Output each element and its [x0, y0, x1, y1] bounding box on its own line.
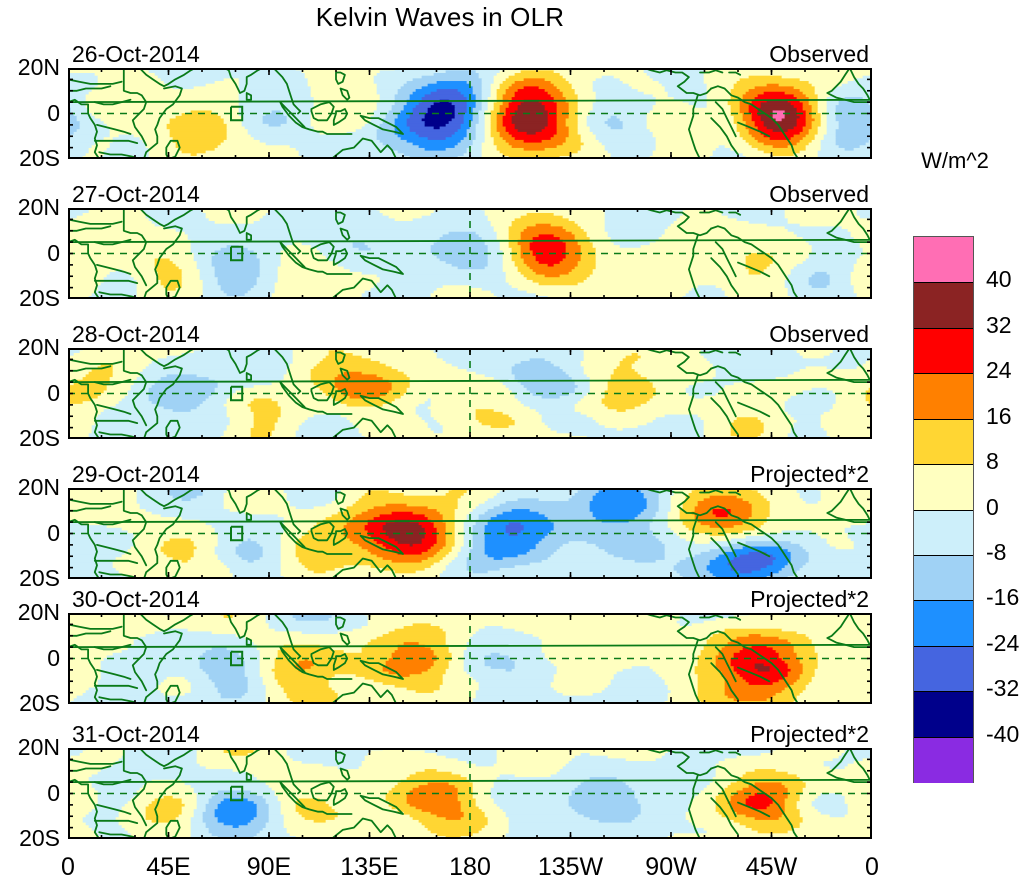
x-tick-label: 180 [420, 853, 520, 882]
colorbar-band [914, 328, 973, 374]
colorbar-tick-label: 16 [986, 403, 1012, 430]
colorbar [913, 236, 974, 783]
y-tick-label: 20S [0, 425, 60, 452]
page-title: Kelvin Waves in OLR [0, 2, 880, 33]
y-tick-label: 0 [0, 240, 60, 267]
x-tick-label: 45W [722, 853, 822, 882]
map-panel-26-oct-2014 [68, 68, 872, 159]
panel-status-label: Projected*2 [68, 721, 869, 748]
colorbar-band [914, 691, 973, 737]
panel-status-label: Observed [68, 321, 869, 348]
colorbar-tick-label: -8 [986, 539, 1006, 566]
y-tick-label: 0 [0, 780, 60, 807]
panel-frame [68, 613, 872, 704]
panel-frame [68, 208, 872, 299]
map-panel-28-oct-2014 [68, 348, 872, 439]
panel-status-label: Projected*2 [68, 461, 869, 488]
colorbar-tick-label: 0 [986, 494, 999, 521]
colorbar-band [914, 737, 973, 783]
colorbar-units-label: W/m^2 [900, 148, 1010, 174]
y-tick-label: 20N [0, 734, 60, 761]
panel-frame [68, 488, 872, 579]
colorbar-tick-label: -24 [986, 630, 1019, 657]
y-tick-label: 20N [0, 194, 60, 221]
colorbar-tick-label: -40 [986, 721, 1019, 748]
colorbar-tick-label: -16 [986, 584, 1019, 611]
x-tick-label: 0 [822, 853, 922, 882]
colorbar-band [914, 600, 973, 646]
colorbar-band [914, 464, 973, 510]
x-tick-label: 90E [219, 853, 319, 882]
map-panel-29-oct-2014 [68, 488, 872, 579]
colorbar-tick-label: 32 [986, 312, 1012, 339]
x-tick-label: 45E [119, 853, 219, 882]
map-panel-30-oct-2014 [68, 613, 872, 704]
y-tick-label: 20N [0, 54, 60, 81]
panel-frame [68, 68, 872, 159]
y-tick-label: 0 [0, 100, 60, 127]
x-tick-label: 90W [621, 853, 721, 882]
colorbar-band [914, 646, 973, 692]
x-tick-label: 135E [320, 853, 420, 882]
y-tick-label: 20S [0, 825, 60, 852]
colorbar-band [914, 282, 973, 328]
y-tick-label: 20S [0, 690, 60, 717]
colorbar-tick-label: 8 [986, 448, 999, 475]
y-tick-label: 20N [0, 474, 60, 501]
panel-frame [68, 748, 872, 839]
figure-root: Kelvin Waves in OLR 20N020S20N020S20N020… [0, 0, 1021, 887]
colorbar-band [914, 510, 973, 556]
map-panel-31-oct-2014 [68, 748, 872, 839]
panel-status-label: Observed [68, 41, 869, 68]
colorbar-band [914, 237, 973, 282]
panel-status-label: Projected*2 [68, 586, 869, 613]
y-tick-label: 20N [0, 599, 60, 626]
colorbar-tick-label: 24 [986, 357, 1012, 384]
colorbar-band [914, 555, 973, 601]
colorbar-tick-label: -32 [986, 675, 1019, 702]
colorbar-band [914, 419, 973, 465]
y-tick-label: 20S [0, 565, 60, 592]
y-tick-label: 20S [0, 285, 60, 312]
y-tick-label: 0 [0, 380, 60, 407]
colorbar-tick-label: 40 [986, 266, 1012, 293]
y-tick-label: 20S [0, 145, 60, 172]
panel-status-label: Observed [68, 181, 869, 208]
y-tick-label: 0 [0, 520, 60, 547]
y-tick-label: 20N [0, 334, 60, 361]
map-panel-27-oct-2014 [68, 208, 872, 299]
y-tick-label: 0 [0, 645, 60, 672]
x-tick-label: 0 [18, 853, 118, 882]
x-tick-label: 135W [521, 853, 621, 882]
panel-frame [68, 348, 872, 439]
colorbar-band [914, 373, 973, 419]
